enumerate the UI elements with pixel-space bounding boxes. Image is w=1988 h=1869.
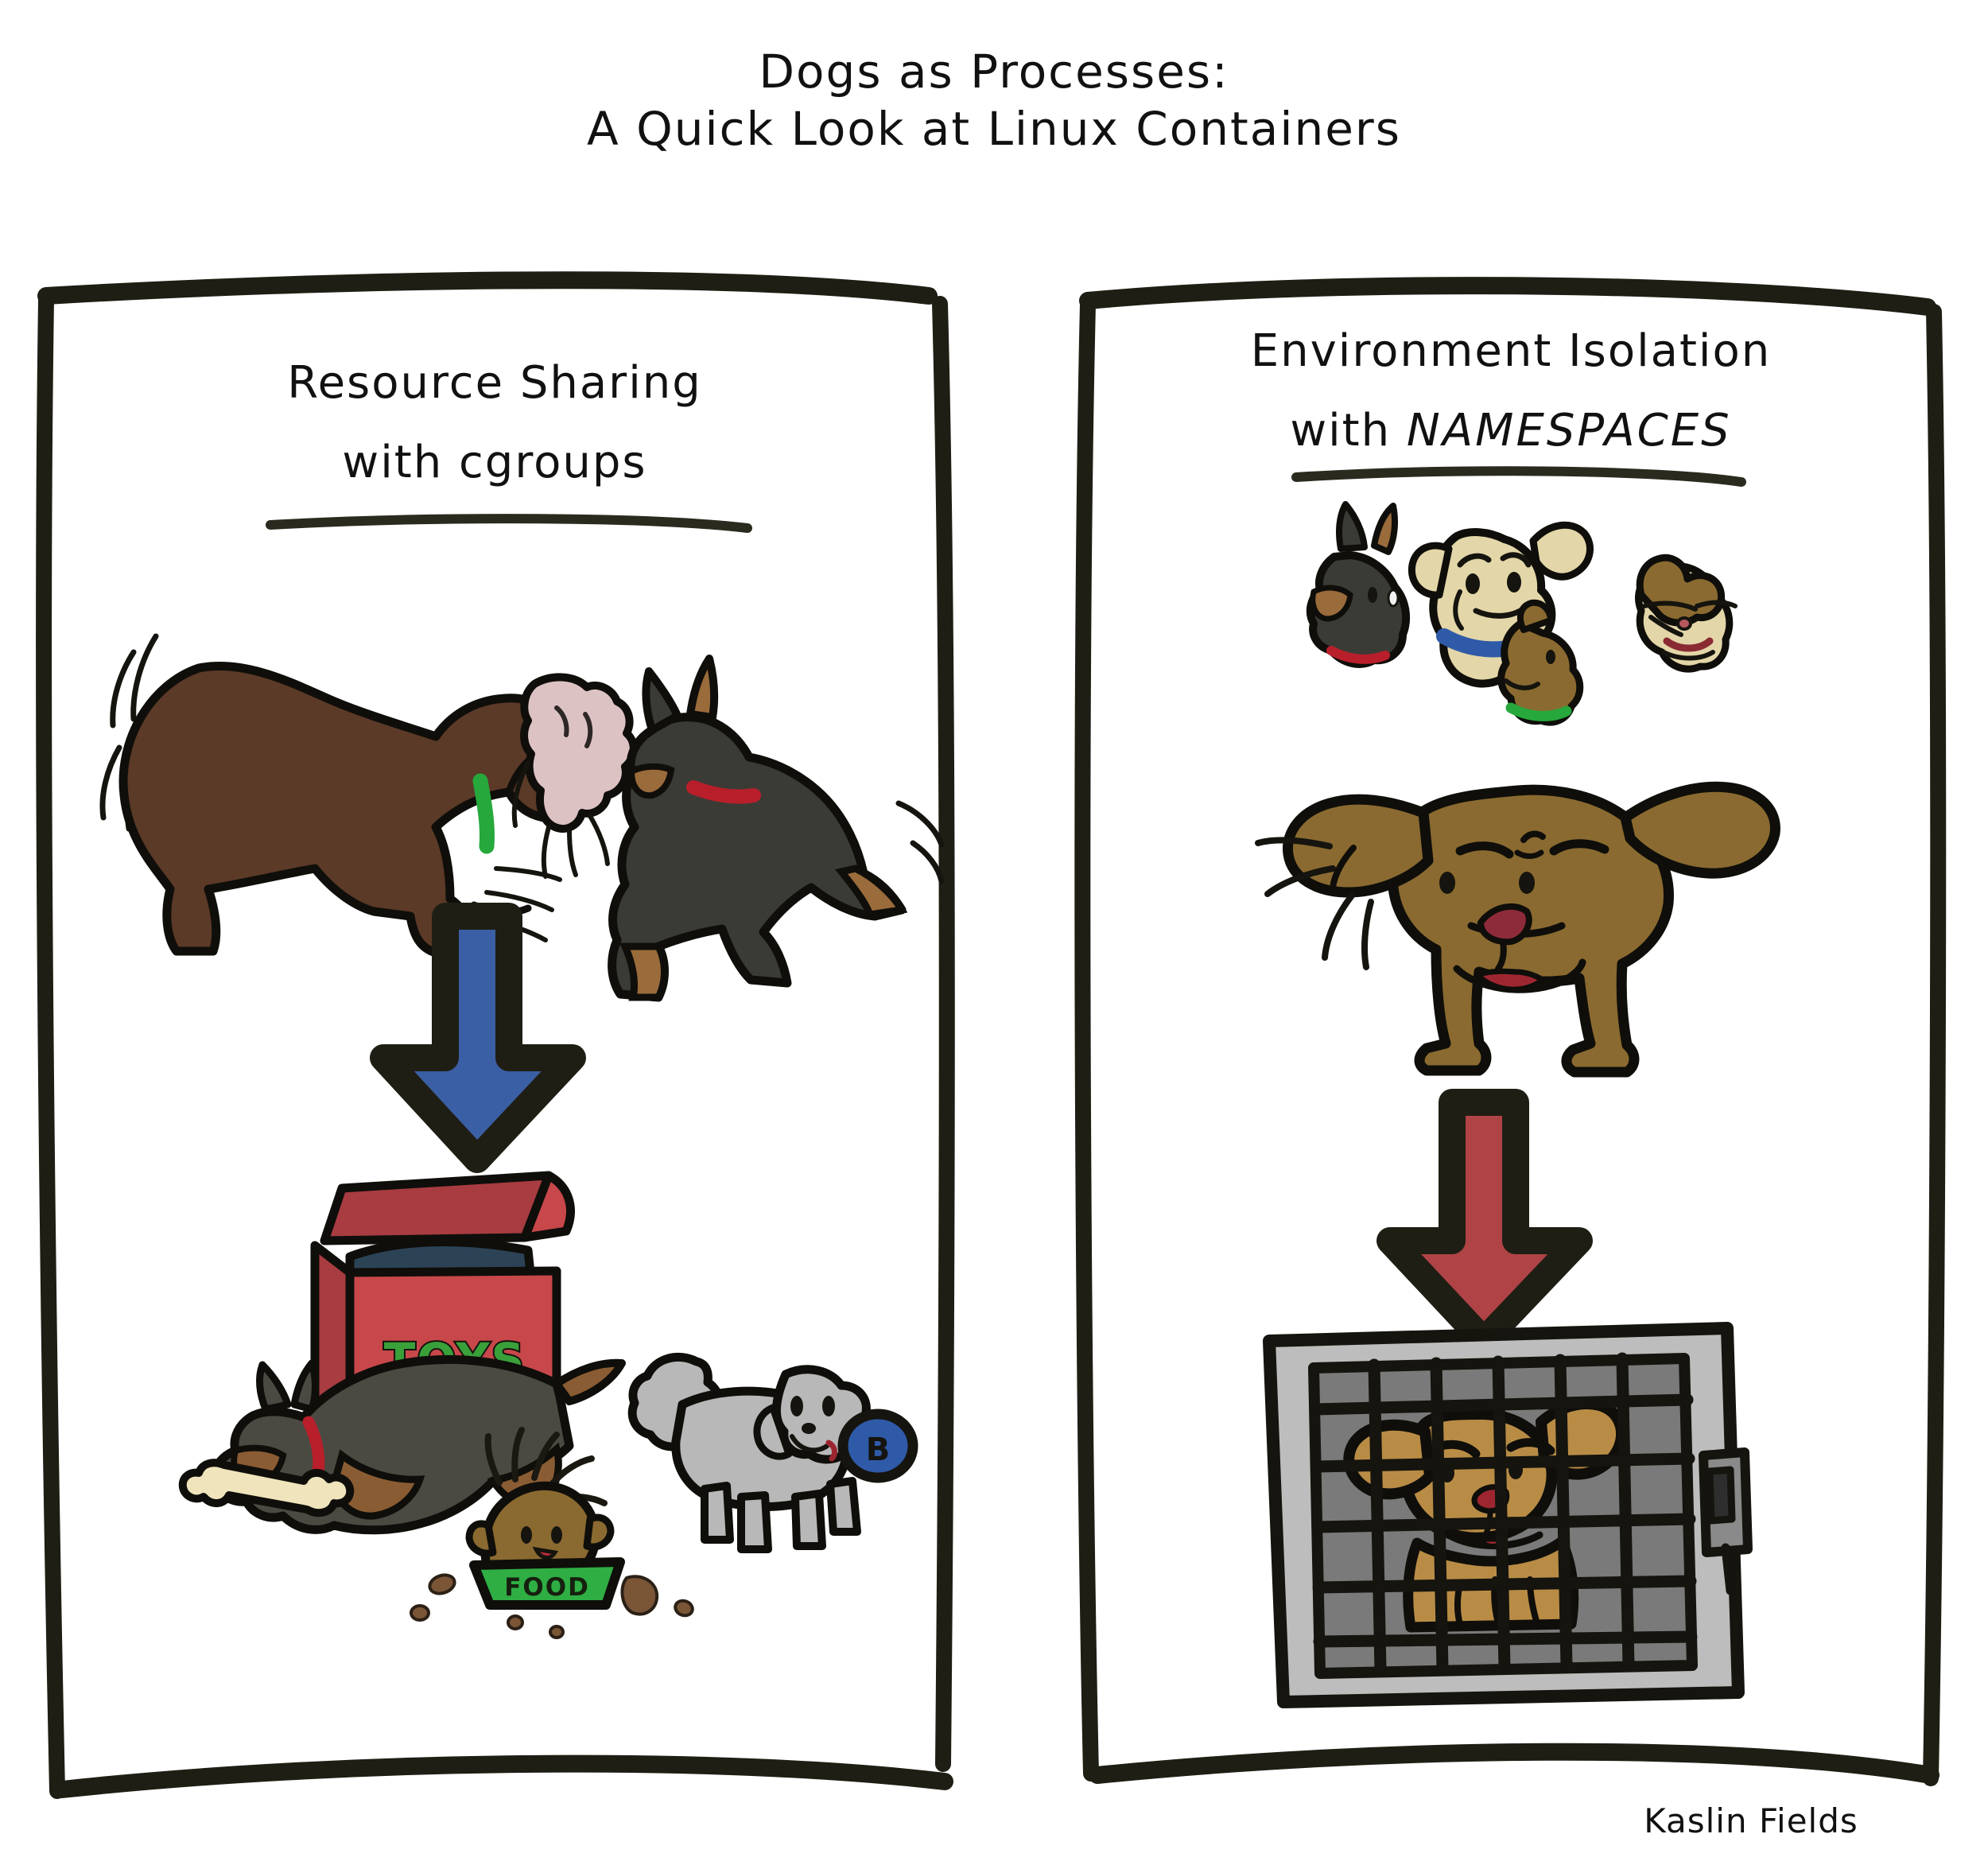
namespaces-emphasis: NAMESPACES bbox=[1407, 405, 1732, 457]
namespaces-heading-underline bbox=[1296, 471, 1741, 482]
blue-down-arrow bbox=[383, 916, 573, 1160]
namespaces-with-word: with bbox=[1290, 405, 1407, 457]
scene-other-dog-heads bbox=[1310, 504, 1735, 722]
red-down-arrow bbox=[1390, 1102, 1579, 1341]
panel-namespaces-heading-line2: with NAMESPACES bbox=[1290, 405, 1731, 457]
pug-head bbox=[1639, 558, 1735, 669]
angry-dog bbox=[1258, 787, 1775, 1072]
pink-toy bbox=[524, 677, 634, 829]
cgroups-heading-underline bbox=[270, 519, 747, 528]
food-bowl-label: FOOD bbox=[504, 1573, 590, 1602]
artist-signature: Kaslin Fields bbox=[1644, 1801, 1858, 1840]
scene-shared-resources: TOYS bbox=[183, 1175, 913, 1638]
panel-cgroups-heading-line1: Resource Sharing bbox=[287, 357, 702, 409]
scene-dog-in-crate bbox=[1269, 1328, 1748, 1702]
poodle bbox=[632, 1357, 868, 1549]
page-title-line2: A Quick Look at Linux Containers bbox=[587, 102, 1401, 156]
panel-namespaces-heading-line1: Environment Isolation bbox=[1251, 325, 1771, 377]
panel-cgroups-heading-line2: with cgroups bbox=[342, 437, 646, 488]
page-title-line1: Dogs as Processes: bbox=[759, 45, 1229, 99]
comic-canvas: Dogs as Processes: A Quick Look at Linux… bbox=[0, 0, 1988, 1869]
ball-label: B bbox=[866, 1432, 891, 1468]
doberman-head bbox=[1310, 504, 1406, 664]
blue-ball: B bbox=[843, 1414, 913, 1478]
